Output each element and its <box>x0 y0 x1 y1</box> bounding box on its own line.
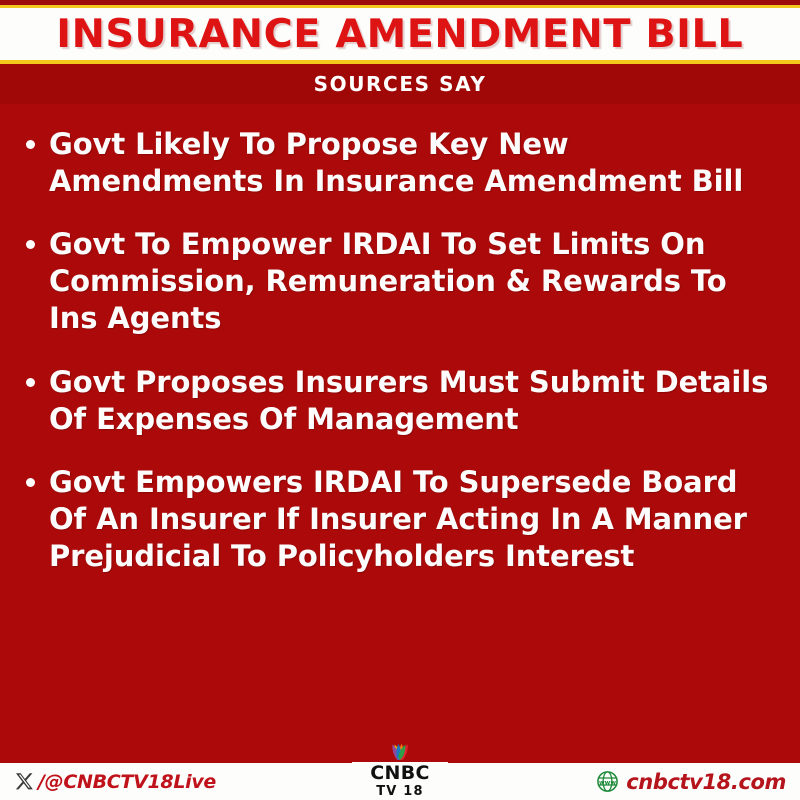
list-item-text: Govt Empowers IRDAI To Supersede Board O… <box>49 464 778 575</box>
www-globe-icon: www <box>596 770 619 793</box>
cnbc-wordmark-wrap: CNBC TV 18 <box>352 762 448 800</box>
list-item-text: Govt Proposes Insurers Must Submit Detai… <box>49 364 778 438</box>
footer-bar: /@CNBCTV18Live www cnbctv18.com <box>0 763 800 800</box>
subtitle-band: SOURCES SAY <box>0 64 800 104</box>
list-item: Govt Likely To Propose Key New Amendment… <box>22 126 778 200</box>
svg-text:www: www <box>599 780 616 787</box>
bullet-dot-icon <box>26 378 35 387</box>
list-item-text: Govt Likely To Propose Key New Amendment… <box>49 126 778 200</box>
title-band: INSURANCE AMENDMENT BILL <box>0 8 800 60</box>
news-graphic-card: INSURANCE AMENDMENT BILL SOURCES SAY Gov… <box>0 0 800 800</box>
bullet-dot-icon <box>26 240 35 249</box>
bullet-dot-icon <box>26 478 35 487</box>
x-twitter-icon[interactable] <box>14 771 36 793</box>
list-item: Govt Proposes Insurers Must Submit Detai… <box>22 364 778 438</box>
bullet-list: Govt Likely To Propose Key New Amendment… <box>0 104 800 763</box>
list-item-text: Govt To Empower IRDAI To Set Limits On C… <box>49 226 778 337</box>
cnbc-wordmark: CNBC <box>370 764 429 783</box>
social-handle-label[interactable]: /@CNBCTV18Live <box>38 771 216 793</box>
list-item: Govt Empowers IRDAI To Supersede Board O… <box>22 464 778 575</box>
cnbc-sub-wordmark: TV 18 <box>376 785 424 798</box>
website-group[interactable]: www cnbctv18.com <box>596 770 786 794</box>
page-title: INSURANCE AMENDMENT BILL <box>57 12 744 57</box>
social-handle-group[interactable]: /@CNBCTV18Live <box>14 771 216 793</box>
website-label[interactable]: cnbctv18.com <box>626 770 786 794</box>
bullet-dot-icon <box>26 140 35 149</box>
list-item: Govt To Empower IRDAI To Set Limits On C… <box>22 226 778 337</box>
page-subtitle: SOURCES SAY <box>314 72 487 96</box>
